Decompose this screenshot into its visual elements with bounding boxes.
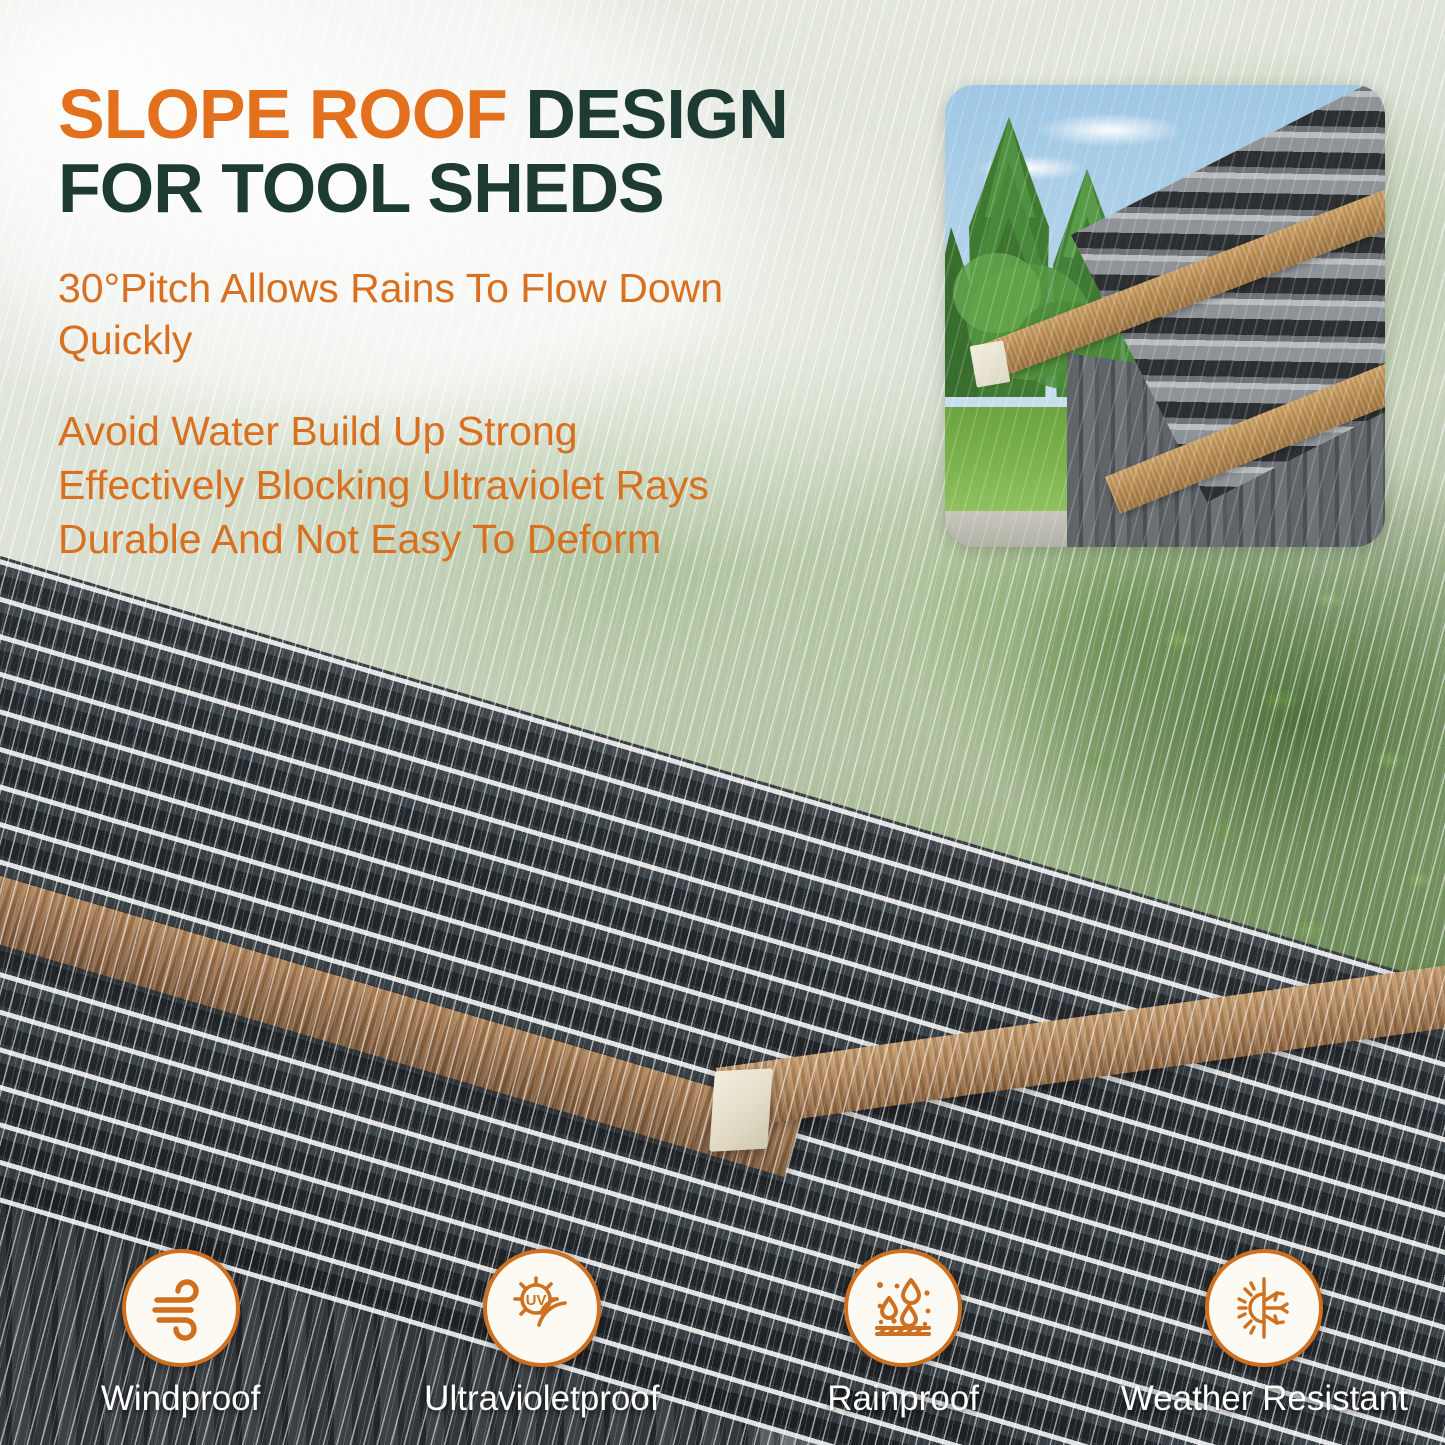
headline-rest: DESIGN — [507, 75, 788, 153]
uv-sun-icon: UV — [483, 1249, 601, 1367]
feature-windproof: Windproof — [0, 1249, 361, 1419]
feature-label: Ultravioletproof — [424, 1379, 659, 1419]
feature-label: Rainproof — [827, 1379, 979, 1419]
feature-ultravioletproof: UV Ultravioletproof — [361, 1249, 722, 1419]
subheading-secondary-line-2: Effectively Blocking Ultraviolet Rays — [58, 458, 878, 512]
sun-snowflake-icon — [1205, 1249, 1323, 1367]
feature-label: Weather Resistant — [1121, 1379, 1408, 1419]
subheading-secondary: Avoid Water Build Up Strong Effectively … — [58, 404, 878, 566]
headline-line-2: FOR TOOL SHEDS — [58, 152, 918, 226]
page-title: SLOPE ROOF DESIGN FOR TOOL SHEDS — [58, 78, 918, 225]
feature-badge-row: Windproof UV Ultravioletproof — [0, 1189, 1445, 1419]
subheading-secondary-line-3: Durable And Not Easy To Deform — [58, 512, 878, 566]
uv-icon-text: UV — [525, 1292, 546, 1309]
roof-corner-cap — [709, 1068, 773, 1151]
feature-weather-resistant: Weather Resistant — [1084, 1249, 1445, 1419]
inset-corner-cap — [970, 340, 1011, 387]
subheading-secondary-line-1: Avoid Water Build Up Strong — [58, 404, 878, 458]
product-feature-poster: SLOPE ROOF DESIGN FOR TOOL SHEDS 30°Pitc… — [0, 0, 1445, 1445]
feature-label: Windproof — [101, 1379, 261, 1419]
feature-rainproof: Rainproof — [723, 1249, 1084, 1419]
wind-icon — [122, 1249, 240, 1367]
rain-drops-surface-icon — [844, 1249, 962, 1367]
inset-photo-card — [945, 85, 1385, 547]
headline-highlight: SLOPE ROOF — [58, 75, 507, 153]
subheading-primary: 30°Pitch Allows Rains To Flow Down Quick… — [58, 262, 858, 367]
headline-line-1: SLOPE ROOF DESIGN — [58, 78, 918, 152]
